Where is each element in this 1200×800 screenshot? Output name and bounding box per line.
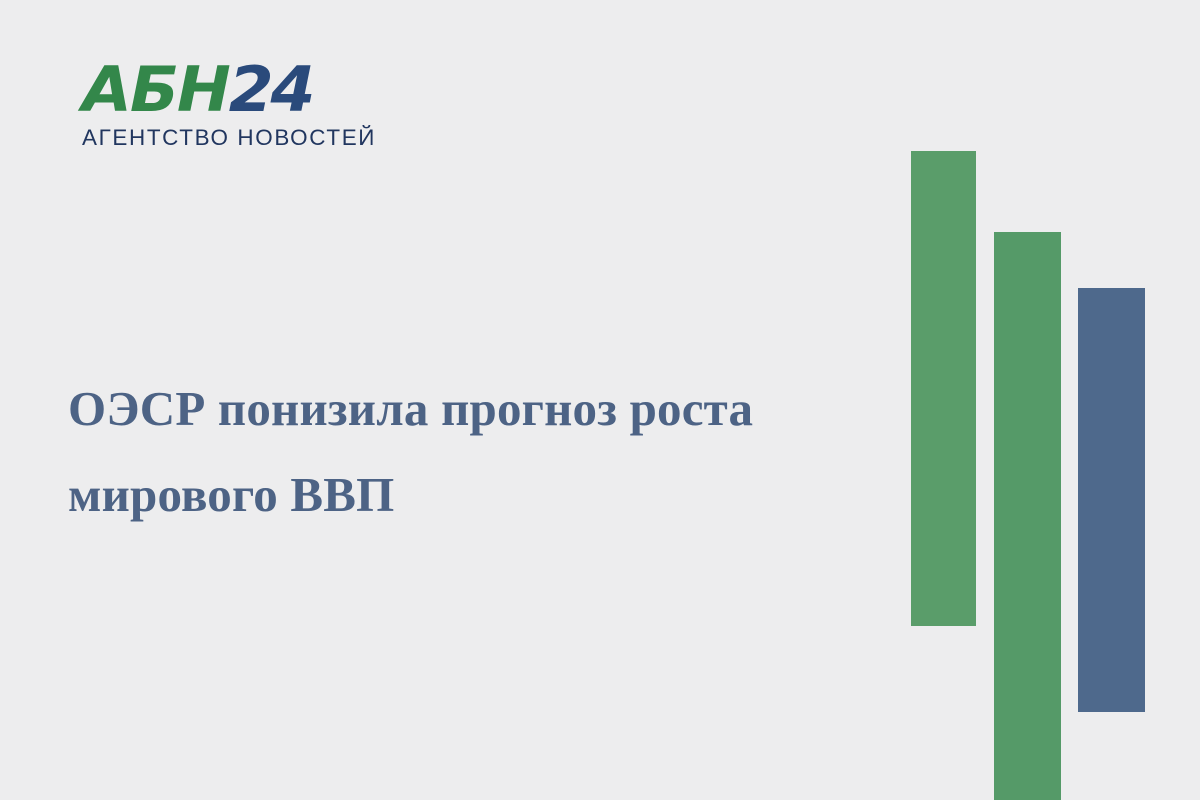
headline: ОЭСР понизила прогноз роста мирового ВВП (68, 366, 868, 538)
logo-tagline: АГЕНТСТВО НОВОСТЕЙ (82, 126, 378, 150)
chart-bar-1 (911, 151, 976, 626)
chart-bar-2 (994, 232, 1061, 800)
chart-bar-3 (1078, 288, 1145, 712)
brand-logo[interactable]: АБН24 АГЕНТСТВО НОВОСТЕЙ (82, 58, 372, 150)
logo-text-24: 24 (229, 53, 312, 126)
logo-text-abn: АБН (82, 53, 229, 126)
logo-wordmark: АБН24 (82, 58, 384, 122)
news-share-card: АБН24 АГЕНТСТВО НОВОСТЕЙ ОЭСР понизила п… (0, 0, 1200, 800)
headline-line-1: ОЭСР понизила прогноз роста (68, 366, 868, 452)
headline-line-2: мирового ВВП (68, 452, 868, 538)
